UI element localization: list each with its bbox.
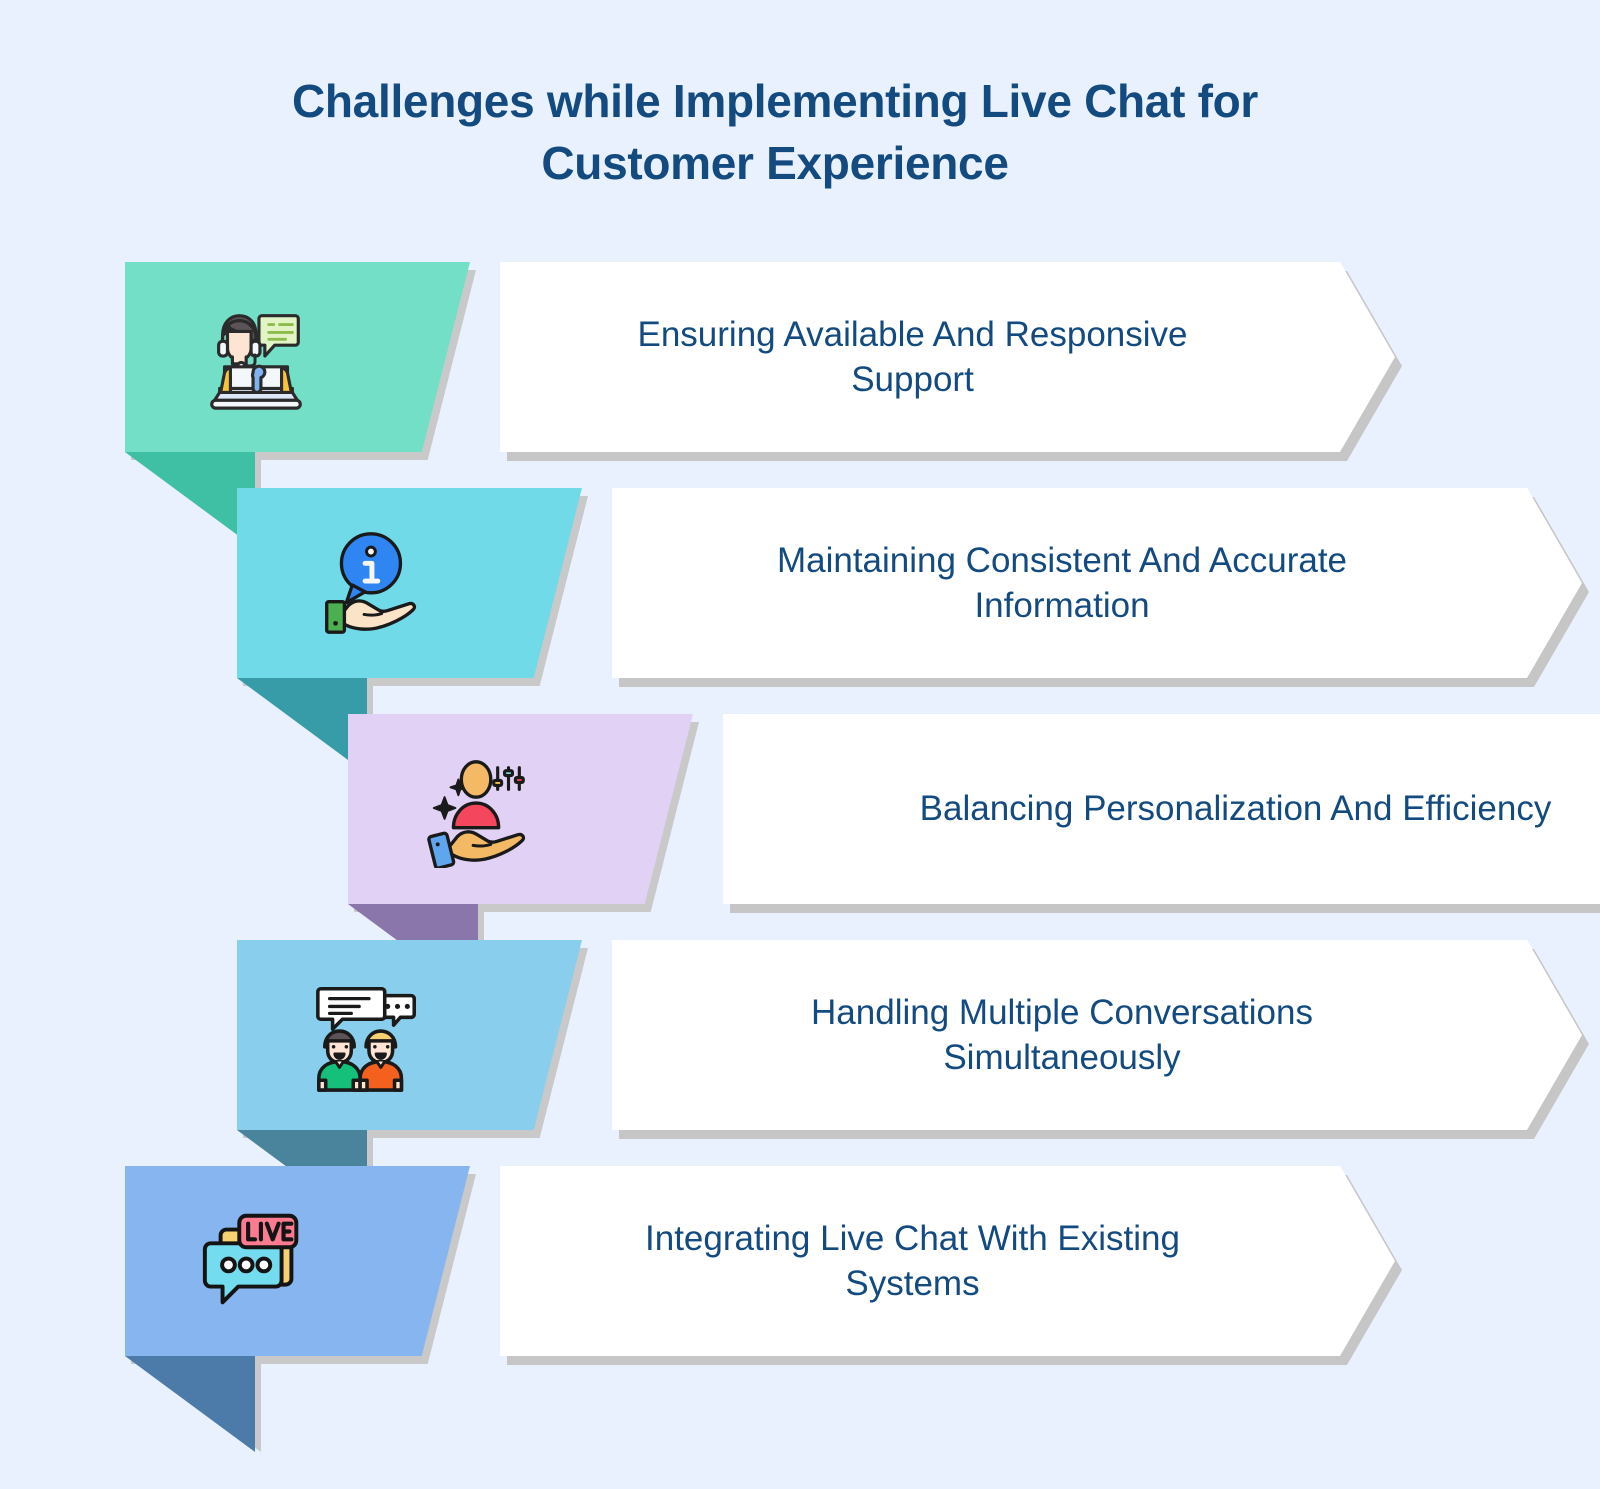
fold-tab [125,452,255,548]
challenge-label: Ensuring Available And Responsive Suppor… [500,262,1395,452]
challenge-banner[interactable]: Handling Multiple Conversations Simultan… [612,940,1582,1130]
challenge-banner[interactable]: Ensuring Available And Responsive Suppor… [500,262,1395,452]
challenge-label: Handling Multiple Conversations Simultan… [612,940,1582,1130]
challenge-row[interactable]: Handling Multiple Conversations Simultan… [237,940,1600,1130]
fold-tab [125,1356,255,1452]
challenge-icon-block [237,488,582,678]
challenge-icon-block [125,1166,470,1356]
challenge-icon-block [125,262,470,452]
challenge-icon-block [237,940,582,1130]
support-agent-headset-laptop-icon [125,262,387,452]
challenge-row[interactable]: Integrating Live Chat With Existing Syst… [125,1166,1415,1356]
challenge-row[interactable]: Ensuring Available And Responsive Suppor… [125,262,1415,452]
challenge-label-text: Integrating Live Chat With Existing Syst… [583,1216,1243,1307]
live-chat-bubbles-icon [125,1166,387,1356]
challenge-row[interactable]: Maintaining Consistent And Accurate Info… [237,488,1600,678]
challenge-icon-block [348,714,693,904]
challenge-label-text: Ensuring Available And Responsive Suppor… [583,312,1243,403]
challenge-banner[interactable]: Integrating Live Chat With Existing Syst… [500,1166,1395,1356]
information-hand-icon [237,488,499,678]
challenge-label-text: Balancing Personalization And Efficiency [920,786,1552,832]
challenge-label: Maintaining Consistent And Accurate Info… [612,488,1582,678]
challenge-row[interactable]: Balancing Personalization And Efficiency [348,714,1600,904]
personalization-sliders-hand-icon [348,714,610,904]
challenge-banner[interactable]: Maintaining Consistent And Accurate Info… [612,488,1582,678]
challenge-label: Integrating Live Chat With Existing Syst… [500,1166,1395,1356]
challenge-label-text: Handling Multiple Conversations Simultan… [732,990,1392,1081]
challenge-label-text: Maintaining Consistent And Accurate Info… [732,538,1392,629]
challenge-banner[interactable]: Balancing Personalization And Efficiency [723,714,1600,904]
two-people-chat-bubbles-icon [237,940,499,1130]
challenge-label: Balancing Personalization And Efficiency [723,714,1600,904]
page-title: Challenges while Implementing Live Chat … [180,70,1370,194]
